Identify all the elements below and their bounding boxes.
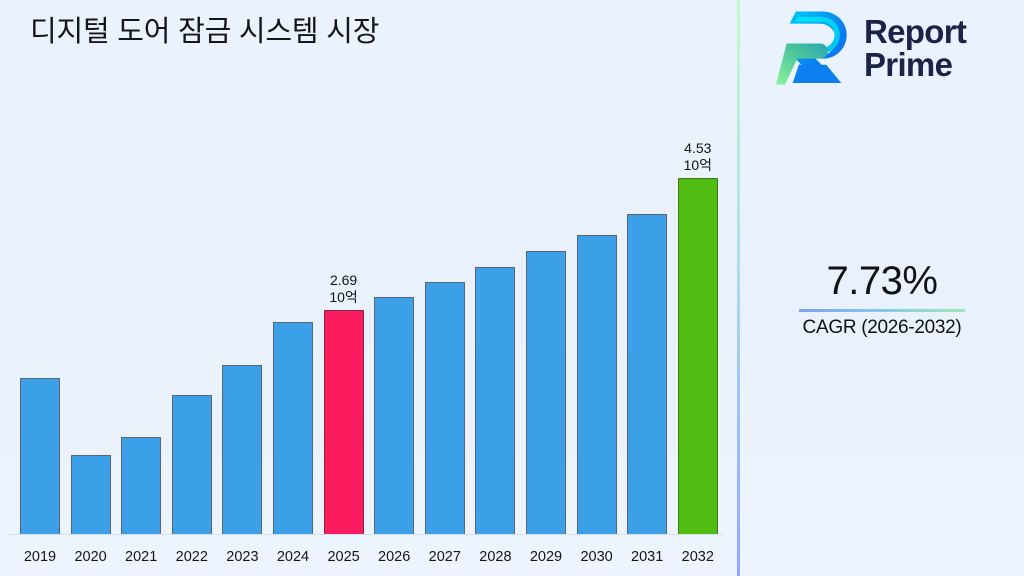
x-tick-2024: 2024 <box>265 548 321 566</box>
bar-2026[interactable] <box>374 297 414 534</box>
bar-2023[interactable] <box>222 365 262 534</box>
bar-chart: 2019202020212022202320242.69 10억20252026… <box>0 0 738 576</box>
poster-root: 디지털 도어 잠금 시스템 시장 20192020202120222023202… <box>0 0 1024 576</box>
bar-2020[interactable] <box>71 455 111 534</box>
logo-line-2: Prime <box>864 48 966 81</box>
bar-2021[interactable] <box>121 437 161 534</box>
x-tick-2021: 2021 <box>113 548 169 566</box>
chart-plot-area: 2019202020212022202320242.69 10억20252026… <box>0 0 738 576</box>
cagr-block: 7.73% CAGR (2026-2032) <box>740 258 1024 340</box>
bar-2025[interactable] <box>324 310 364 534</box>
bar-2024[interactable] <box>273 322 313 534</box>
x-tick-2025: 2025 <box>316 548 372 566</box>
bar-value-label-2025: 2.69 10억 <box>302 272 386 306</box>
bar-2029[interactable] <box>526 251 566 534</box>
brand-panel: Report Prime 7.73% CAGR (2026-2032) <box>740 0 1024 576</box>
bar-2022[interactable] <box>172 395 212 534</box>
bar-2030[interactable] <box>577 235 617 534</box>
logo: Report Prime <box>776 8 966 88</box>
bar-2032[interactable] <box>678 178 718 534</box>
x-tick-2030: 2030 <box>569 548 625 566</box>
cagr-value: 7.73% <box>740 258 1024 304</box>
x-tick-2031: 2031 <box>619 548 675 566</box>
x-axis-line <box>8 534 724 535</box>
x-tick-2029: 2029 <box>518 548 574 566</box>
bar-2027[interactable] <box>425 282 465 534</box>
x-tick-2019: 2019 <box>12 548 68 566</box>
x-tick-2027: 2027 <box>417 548 473 566</box>
cagr-caption: CAGR (2026-2032) <box>740 316 1024 340</box>
x-tick-2020: 2020 <box>63 548 119 566</box>
x-tick-2023: 2023 <box>214 548 270 566</box>
bar-2019[interactable] <box>20 378 60 534</box>
logo-line-1: Report <box>864 15 966 48</box>
bar-2028[interactable] <box>475 267 515 534</box>
bar-2031[interactable] <box>627 214 667 534</box>
x-tick-2028: 2028 <box>467 548 523 566</box>
x-tick-2032: 2032 <box>670 548 726 566</box>
report-prime-logo-icon <box>776 8 852 88</box>
x-tick-2022: 2022 <box>164 548 220 566</box>
cagr-divider-rule <box>799 309 965 312</box>
logo-wordmark: Report Prime <box>864 15 966 81</box>
x-tick-2026: 2026 <box>366 548 422 566</box>
bar-value-label-2032: 4.53 10억 <box>656 140 740 174</box>
